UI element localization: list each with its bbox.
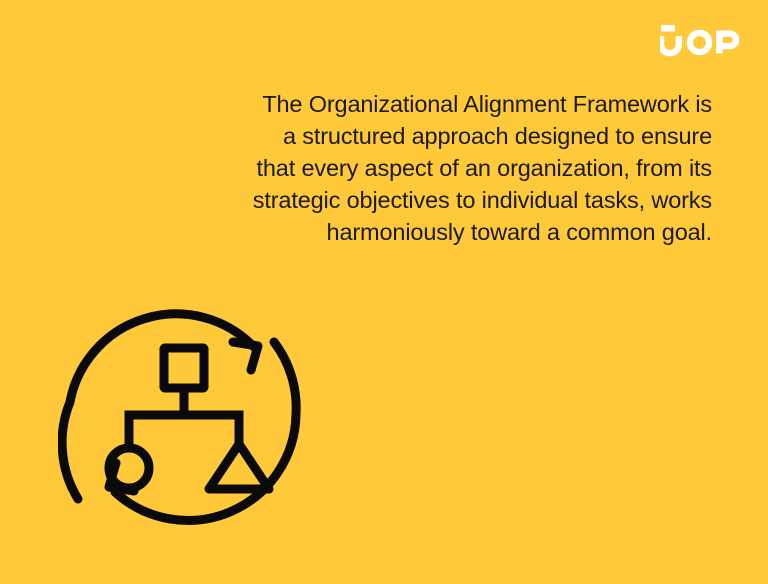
body-line-2: a structured approach designed to ensure (150, 120, 712, 152)
jop-logo[interactable] (660, 22, 742, 60)
body-line-4: strategic objectives to individual tasks… (150, 184, 712, 216)
cycle-arrowhead-top-icon (233, 342, 258, 370)
jop-wordmark-icon (660, 22, 742, 60)
body-line-5: harmoniously toward a common goal. (150, 216, 712, 248)
body-line-1: The Organizational Alignment Framework i… (150, 88, 712, 120)
organizational-alignment-cycle-icon (58, 284, 308, 534)
org-connector-bar (129, 415, 239, 447)
body-line-3: that every aspect of an organization, fr… (150, 152, 712, 184)
body-paragraph: The Organizational Alignment Framework i… (150, 88, 712, 248)
slide-canvas: The Organizational Alignment Framework i… (0, 0, 768, 584)
org-node-triangle (209, 444, 269, 489)
org-node-square (164, 348, 204, 388)
